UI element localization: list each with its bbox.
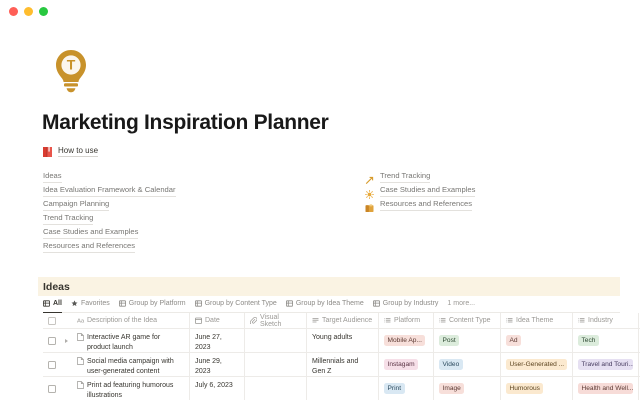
cell-description[interactable]: Social media campaign with user-generate… xyxy=(72,353,190,376)
status-badge: User-Generated ... xyxy=(506,359,567,370)
tab-label: Group by Platform xyxy=(129,300,186,307)
cell-target-audience[interactable]: Young adults xyxy=(307,329,379,352)
cell-description-text: Social media campaign with user-generate… xyxy=(87,357,184,376)
ideas-database: Ideas All Favorites xyxy=(0,277,640,400)
tab-label: Favorites xyxy=(81,300,110,307)
tab-all[interactable]: All xyxy=(43,296,62,313)
chart-increasing-icon xyxy=(365,172,374,181)
tab-label: Group by Idea Theme xyxy=(296,300,364,307)
svg-text:T: T xyxy=(67,57,76,73)
column-header-date[interactable]: Date xyxy=(190,313,245,328)
cell-target-audience[interactable] xyxy=(307,377,379,400)
status-badge: Ad xyxy=(506,335,521,346)
column-header-idea-theme[interactable]: Idea Theme xyxy=(501,313,573,328)
multi-select-icon xyxy=(506,317,513,324)
status-badge: Video xyxy=(439,359,463,370)
tab-label: Group by Industry xyxy=(383,300,439,307)
multi-select-icon xyxy=(578,317,585,324)
multi-select-icon xyxy=(384,317,391,324)
row-expand-toggle[interactable] xyxy=(60,377,72,400)
link-item-case-studies-and-examples[interactable]: Case Studies and Examples xyxy=(43,226,176,240)
column-header-label: Content Type xyxy=(449,317,491,324)
tab-label: Group by Content Type xyxy=(205,300,277,307)
table-icon xyxy=(286,300,293,307)
closed-book-icon xyxy=(43,147,52,157)
checkbox-icon xyxy=(48,361,56,369)
tab-more-views[interactable]: 1 more... xyxy=(447,296,475,313)
tab-group-by-industry[interactable]: Group by Industry xyxy=(373,296,439,313)
row-checkbox[interactable] xyxy=(43,377,60,400)
row-expand-toggle[interactable] xyxy=(60,353,72,376)
database-view-tabs: All Favorites Group by Platform xyxy=(43,296,620,313)
page-document-icon xyxy=(77,357,84,365)
chevron-right-icon xyxy=(65,339,68,343)
cell-description[interactable]: Interactive AR game for product launch xyxy=(72,329,190,352)
database-title: Ideas xyxy=(43,281,70,293)
column-header-label: Date xyxy=(205,317,220,324)
cell-description[interactable]: Print ad featuring humorous illustration… xyxy=(72,377,190,400)
multi-select-icon xyxy=(439,317,446,324)
cell-platform[interactable]: Print xyxy=(379,377,434,400)
status-badge: Health and Well... xyxy=(578,383,633,394)
table-icon xyxy=(119,300,126,307)
cell-idea-theme[interactable]: Ad xyxy=(501,329,573,352)
cell-idea-theme[interactable]: Humorous xyxy=(501,377,573,400)
cell-visual-sketch[interactable] xyxy=(245,377,307,400)
cell-platform[interactable]: Mobile Ap... xyxy=(379,329,434,352)
link-item-trend-tracking[interactable]: Trend Tracking xyxy=(43,212,176,226)
table-icon xyxy=(43,300,50,307)
tab-group-by-platform[interactable]: Group by Platform xyxy=(119,296,186,313)
page-document-icon xyxy=(77,333,84,341)
app-window: T Marketing Inspiration Planner How to u… xyxy=(0,0,640,400)
sparkle-sun-icon xyxy=(365,186,374,195)
link-label: Ideas xyxy=(43,170,62,183)
lightbulb-icon: T xyxy=(53,49,89,93)
link-item-ideas[interactable]: Ideas xyxy=(43,170,176,184)
status-badge: Tech xyxy=(578,335,599,346)
page-document-icon xyxy=(77,381,84,389)
column-header-target-audience[interactable]: Target Audience xyxy=(307,313,379,328)
column-header-label: Idea Theme xyxy=(516,317,553,324)
tab-label: All xyxy=(53,300,62,307)
table-row[interactable]: Social media campaign with user-generate… xyxy=(43,353,640,377)
how-to-use-link[interactable]: How to use xyxy=(43,146,640,157)
link-columns: Ideas Idea Evaluation Framework & Calend… xyxy=(0,170,640,258)
paperclip-icon xyxy=(250,317,257,324)
column-header-label: Visual Sketch xyxy=(260,314,301,328)
column-header-visual-sketch[interactable]: Visual Sketch xyxy=(245,313,307,328)
link-column-right: Trend Tracking Case Studies and Examples xyxy=(365,170,475,212)
link-item-idea-evaluation-framework-calendar[interactable]: Idea Evaluation Framework & Calendar xyxy=(43,184,176,198)
link-label: Trend Tracking xyxy=(380,170,430,183)
cell-platform[interactable]: Instagam xyxy=(379,353,434,376)
table-icon xyxy=(373,300,380,307)
status-badge: Print xyxy=(384,383,405,394)
link-item-resources-and-references-right[interactable]: Resources and References xyxy=(365,198,475,212)
cell-date[interactable]: June 27, 2023 xyxy=(190,329,245,352)
table-row[interactable]: Print ad featuring humorous illustration… xyxy=(43,377,640,400)
how-to-use-label: How to use xyxy=(58,146,98,157)
column-header-platform[interactable]: Platform xyxy=(379,313,434,328)
link-item-trend-tracking-right[interactable]: Trend Tracking xyxy=(365,170,475,184)
column-header-label: Industry xyxy=(588,317,613,324)
minimize-button[interactable] xyxy=(24,7,33,16)
page-title: Marketing Inspiration Planner xyxy=(42,111,640,135)
cell-description-text: Interactive AR game for product launch xyxy=(87,333,184,352)
row-checkbox[interactable] xyxy=(43,329,60,352)
column-header-label: Description of the Idea xyxy=(87,317,157,324)
status-badge: Mobile Ap... xyxy=(384,335,425,346)
link-label: Trend Tracking xyxy=(43,212,93,225)
card-index-dividers-icon xyxy=(365,200,374,209)
table-icon xyxy=(195,300,202,307)
column-header-industry[interactable]: Industry xyxy=(573,313,639,328)
cell-idea-theme[interactable]: User-Generated ... xyxy=(501,353,573,376)
table-header-row: Aa Description of the Idea Date xyxy=(43,313,640,329)
tab-group-by-content-type[interactable]: Group by Content Type xyxy=(195,296,277,313)
cell-content-type[interactable]: Video xyxy=(434,353,501,376)
expand-column-spacer xyxy=(60,313,72,328)
status-badge: Post xyxy=(439,335,459,346)
link-label: Campaign Planning xyxy=(43,198,109,211)
link-label: Case Studies and Examples xyxy=(43,226,138,239)
link-item-campaign-planning[interactable]: Campaign Planning xyxy=(43,198,176,212)
database-banner: Ideas xyxy=(38,277,620,296)
cell-industry[interactable]: Health and Well... xyxy=(573,377,639,400)
close-button[interactable] xyxy=(9,7,18,16)
link-item-resources-and-references[interactable]: Resources and References xyxy=(43,240,176,254)
checkbox-icon xyxy=(48,317,56,325)
ideas-table: Aa Description of the Idea Date xyxy=(43,313,640,400)
cell-industry[interactable]: Tech xyxy=(573,329,639,352)
select-all-checkbox[interactable] xyxy=(43,313,60,328)
cell-visual-sketch[interactable] xyxy=(245,353,307,376)
checkbox-icon xyxy=(48,385,56,393)
tab-favorites[interactable]: Favorites xyxy=(71,296,110,313)
title-text-icon: Aa xyxy=(77,317,84,324)
link-label: Idea Evaluation Framework & Calendar xyxy=(43,184,176,197)
status-badge: Instagam xyxy=(384,359,418,370)
column-header-description-of-the-idea[interactable]: Aa Description of the Idea xyxy=(72,313,190,328)
link-label: Resources and References xyxy=(43,240,135,253)
cell-date[interactable]: July 6, 2023 xyxy=(190,377,245,400)
svg-text:Aa: Aa xyxy=(77,319,85,324)
status-badge: Image xyxy=(439,383,464,394)
table-row[interactable]: Interactive AR game for product launch J… xyxy=(43,329,640,353)
column-header-label: Target Audience xyxy=(322,317,372,324)
status-badge: Travel and Touri... xyxy=(578,359,633,370)
column-header-label: Platform xyxy=(394,317,420,324)
cell-description-text: Print ad featuring humorous illustration… xyxy=(87,381,184,400)
star-icon xyxy=(71,300,78,307)
link-item-case-studies-and-examples-right[interactable]: Case Studies and Examples xyxy=(365,184,475,198)
checkbox-icon xyxy=(48,337,56,345)
calendar-icon xyxy=(195,317,202,324)
link-label: Resources and References xyxy=(380,198,472,211)
page-content: T Marketing Inspiration Planner How to u… xyxy=(0,49,640,400)
page-icon-wrap[interactable]: T xyxy=(53,49,640,93)
zoom-button[interactable] xyxy=(39,7,48,16)
cell-industry[interactable]: Travel and Touri... xyxy=(573,353,639,376)
column-header-content-type[interactable]: Content Type xyxy=(434,313,501,328)
link-label: Case Studies and Examples xyxy=(380,184,475,197)
text-lines-icon xyxy=(312,317,319,324)
tab-group-by-idea-theme[interactable]: Group by Idea Theme xyxy=(286,296,364,313)
status-badge: Humorous xyxy=(506,383,543,394)
window-titlebar xyxy=(0,0,640,22)
cell-target-audience[interactable]: Millennials and Gen Z xyxy=(307,353,379,376)
row-expand-toggle[interactable] xyxy=(60,329,72,352)
cell-content-type[interactable]: Post xyxy=(434,329,501,352)
link-column-left: Ideas Idea Evaluation Framework & Calend… xyxy=(43,170,176,254)
cell-date[interactable]: June 29, 2023 xyxy=(190,353,245,376)
row-checkbox[interactable] xyxy=(43,353,60,376)
cell-content-type[interactable]: Image xyxy=(434,377,501,400)
cell-visual-sketch[interactable] xyxy=(245,329,307,352)
